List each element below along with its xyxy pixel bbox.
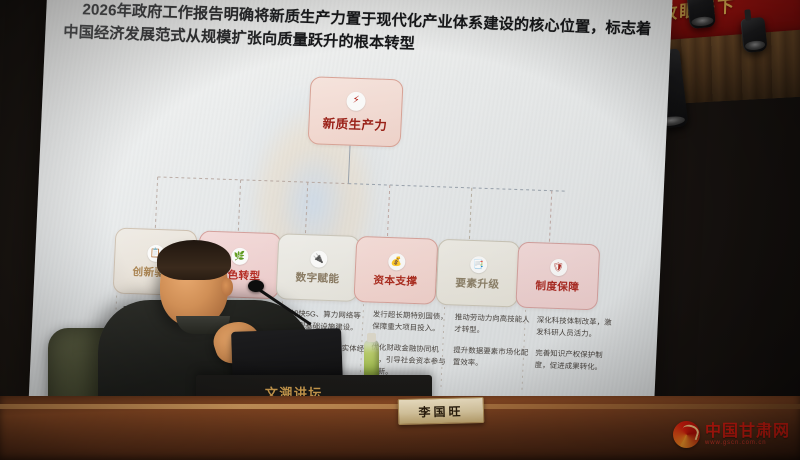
text-column-factors: 推动劳动力向高技能人才转型。 提升数据要素市场化配置效率。 bbox=[452, 311, 531, 380]
lightning-doc-icon: ⚡ bbox=[346, 91, 366, 111]
bullet-institution-1: 深化科技体制改革，激发科研人员活力。 bbox=[536, 314, 613, 341]
branch-node-institution[interactable]: 🛡 制度保障 bbox=[515, 242, 600, 311]
auditorium-photo: 放眼天下 2026年政府工作报告明确将新质生产力置于现代化产业体系建设的核心位置… bbox=[0, 0, 800, 460]
text-column-institution: 深化科技体制改革，激发科研人员活力。 完善知识产权保护制度，促进成果转化。 bbox=[534, 314, 613, 383]
clipboard-icon: 📑 bbox=[469, 255, 487, 273]
text-column-innovation: 研发经费年增长超7%，突破科技原始创新。 强化企业创新主体地位，提升转化率。 bbox=[120, 304, 199, 384]
branch-label-factors: 要素升级 bbox=[455, 275, 500, 292]
projection-screen: 2026年政府工作报告明确将新质生产力置于现代化产业体系建设的核心位置，标志着 … bbox=[28, 0, 672, 427]
watermark-site-name: 中国甘肃网 bbox=[705, 423, 790, 439]
leaf-energy-icon: 🌿 bbox=[231, 247, 249, 265]
mindmap-root-node[interactable]: ⚡ 新质生产力 bbox=[308, 76, 404, 147]
mind-map: ⚡ 新质生产力 📋 创新驱动 🌿 绿色转型 🔌 数字赋能 💰 bbox=[44, 57, 651, 397]
stage-light-5 bbox=[686, 0, 716, 29]
slide-headline: 2026年政府工作报告明确将新质生产力置于现代化产业体系建设的核心位置，标志着 … bbox=[59, 0, 654, 64]
watermark-site-url: www.gscn.com.cn bbox=[705, 440, 790, 446]
branch-node-green[interactable]: 🌿 绿色转型 bbox=[197, 230, 282, 299]
bullet-innovation-2: 强化企业创新主体地位，提升转化率。 bbox=[120, 349, 197, 376]
gscn-watermark: 中国甘肃网 www.gscn.com.cn bbox=[673, 421, 790, 448]
bullet-innovation-1: 研发经费年增长超7%，突破科技原始创新。 bbox=[121, 304, 199, 343]
branch-node-capital[interactable]: 💰 资本支撑 bbox=[353, 236, 438, 305]
branch-node-factors[interactable]: 📑 要素升级 bbox=[435, 239, 520, 308]
text-column-capital: 发行超长期特别国债，保障重大项目投入。 优化财政金融协同机制，引导社会资本参与创… bbox=[370, 309, 449, 389]
branch-label-institution: 制度保障 bbox=[535, 278, 580, 295]
bullet-green-2: 深入推进碳达峰行动。 bbox=[205, 340, 282, 355]
branch-label-green: 绿色转型 bbox=[216, 267, 261, 284]
coins-grid-icon: 💰 bbox=[387, 253, 405, 271]
branch-label-digital: 数字赋能 bbox=[295, 269, 340, 286]
cloud-chip-icon: 🔌 bbox=[309, 250, 327, 268]
gscn-logo-icon bbox=[673, 421, 700, 448]
text-column-digital: 加快5G、算力网络等新型基础设施建设。 推动人工智能与实体经济深度融合。 bbox=[288, 308, 367, 377]
bullet-capital-2: 优化财政金融协同机制，引导社会资本参与创新。 bbox=[370, 341, 448, 380]
bullet-institution-2: 完善知识产权保护制度，促进成果转化。 bbox=[534, 347, 611, 374]
bullet-green-1: 发展新能源产业，提升能源利用效率。 bbox=[206, 307, 283, 334]
bullet-factors-1: 推动劳动力向高技能人才转型。 bbox=[454, 311, 531, 338]
branch-label-capital: 资本支撑 bbox=[373, 272, 418, 289]
watermark-text-group: 中国甘肃网 www.gscn.com.cn bbox=[705, 423, 790, 446]
bullet-factors-2: 提升数据要素市场化配置效率。 bbox=[453, 344, 530, 371]
branch-node-innovation[interactable]: 📋 创新驱动 bbox=[113, 227, 198, 296]
shield-seal-icon: 🛡 bbox=[549, 258, 567, 276]
text-column-green: 发展新能源产业，提升能源利用效率。 深入推进碳达峰行动。 bbox=[205, 307, 283, 364]
root-node-label: 新质生产力 bbox=[322, 112, 387, 133]
stage-light-6 bbox=[740, 17, 767, 53]
bullet-digital-2: 推动人工智能与实体经济深度融合。 bbox=[289, 341, 366, 368]
bullet-capital-1: 发行超长期特别国债，保障重大项目投入。 bbox=[372, 309, 449, 336]
presentation-slide: 2026年政府工作报告明确将新质生产力置于现代化产业体系建设的核心位置，标志着 … bbox=[28, 0, 672, 427]
branch-node-digital[interactable]: 🔌 数字赋能 bbox=[275, 233, 360, 302]
branch-label-innovation: 创新驱动 bbox=[132, 264, 177, 281]
document-idea-icon: 📋 bbox=[147, 244, 165, 262]
bullet-digital-1: 加快5G、算力网络等新型基础设施建设。 bbox=[290, 308, 367, 335]
